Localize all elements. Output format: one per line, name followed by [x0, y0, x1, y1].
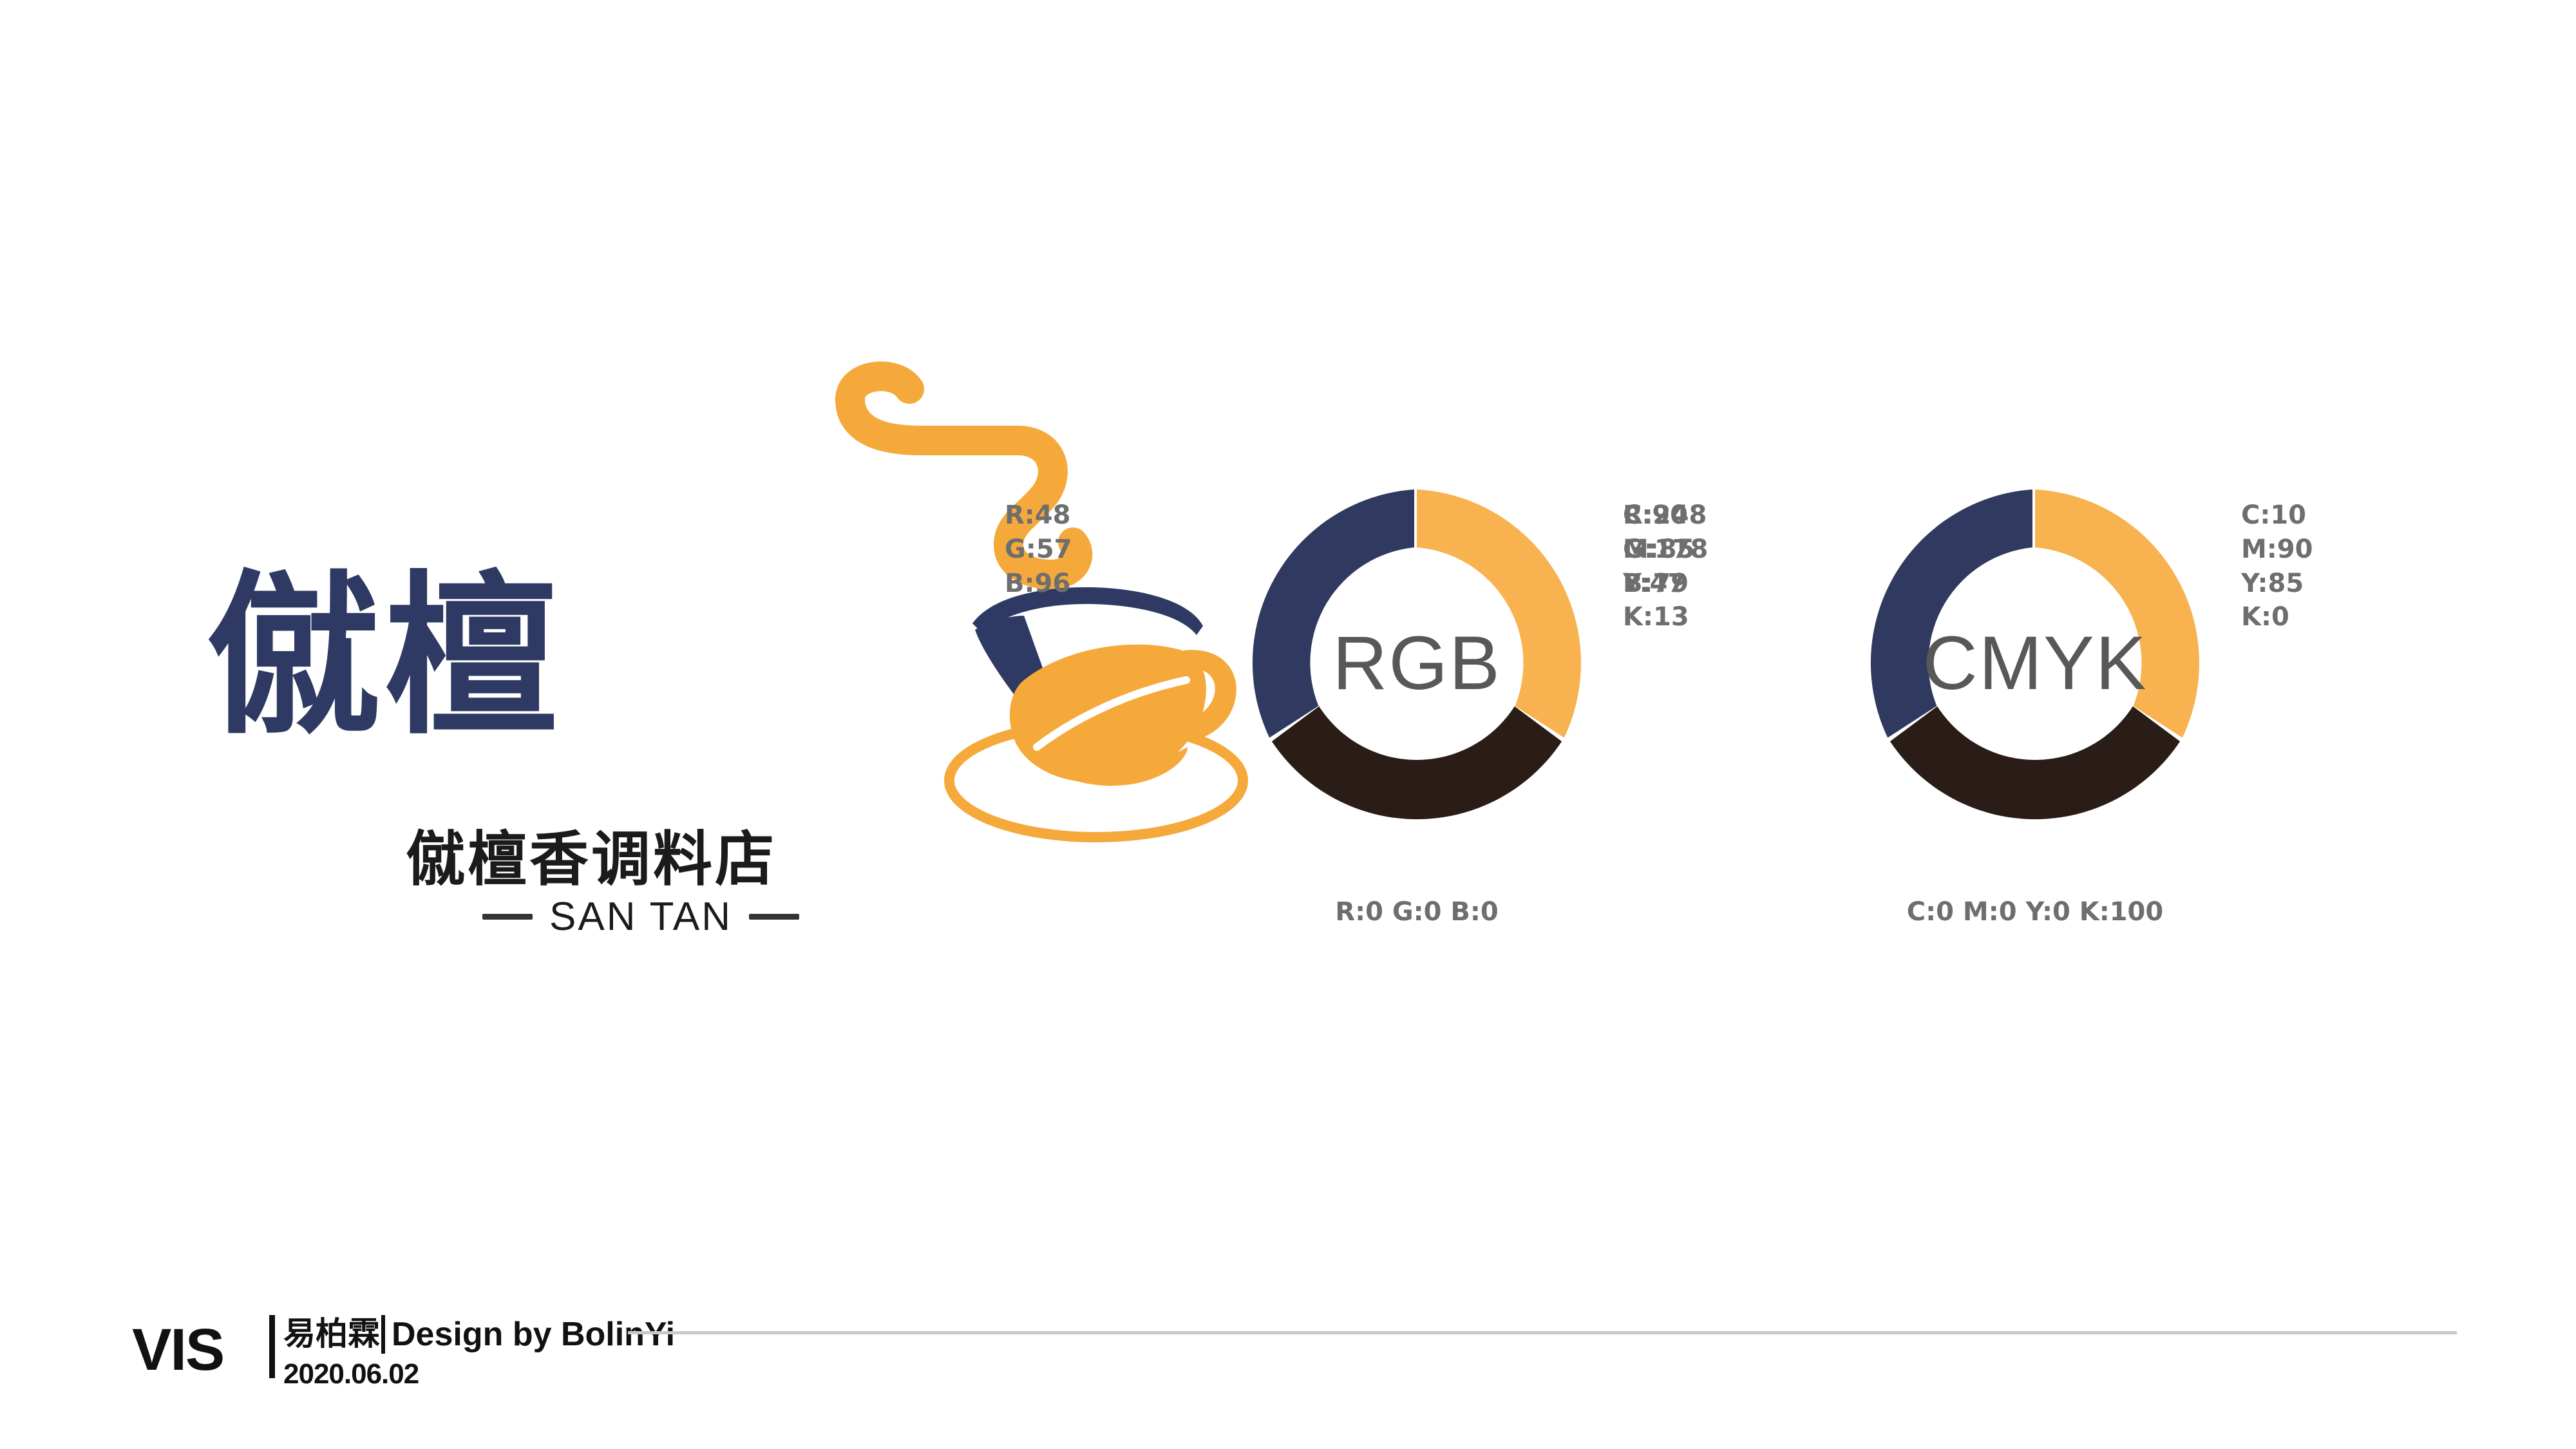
- cmyk-center-label: CMYK: [1842, 470, 2228, 857]
- logo-mark: 僦檀: [193, 361, 1108, 876]
- cmyk-donut-chart: CMYK: [1842, 470, 2228, 857]
- logo-wordmark-chinese: 僦檀: [206, 570, 562, 744]
- footer-vis-label: VIS: [132, 1320, 223, 1379]
- rgb-black-values: R:0 G:0 B:0: [1108, 895, 1726, 929]
- dash-rule-left: [482, 914, 533, 920]
- logo-subtitle-english-row: SAN TAN: [406, 894, 876, 940]
- dash-rule-right: [749, 914, 799, 920]
- rgb-center-label: RGB: [1224, 470, 1610, 857]
- page-footer: VIS 易柏霖 Design by BolinYi 2020.06.02: [0, 1301, 2576, 1404]
- cmyk-color-panel: C:90 M:85 Y:47 K:13 C:10 M:90 Y:85 K:0 C…: [1726, 451, 2344, 1005]
- footer-divider-2: [381, 1315, 385, 1354]
- rgb-donut-chart: RGB: [1224, 470, 1610, 857]
- brand-logo-lockup: 僦檀 僦檀香调料店 SAN TAN: [193, 361, 1108, 1018]
- footer-date: 2020.06.02: [283, 1360, 419, 1388]
- footer-divider-1: [269, 1315, 275, 1378]
- cmyk-navy-values: C:90 M:85 Y:47 K:13: [1623, 498, 1835, 634]
- cmyk-orange-values: C:10 M:90 Y:85 K:0: [2241, 498, 2460, 634]
- rgb-navy-values: R:48 G:57 B:96: [1005, 498, 1217, 600]
- cmyk-black-values: C:0 M:0 Y:0 K:100: [1726, 895, 2344, 929]
- logo-subtitle-chinese: 僦檀香调料店: [406, 811, 777, 897]
- logo-subtitle-english: SAN TAN: [549, 894, 732, 940]
- footer-horizontal-rule: [628, 1331, 2457, 1334]
- footer-design-by: Design by BolinYi: [392, 1318, 675, 1351]
- footer-designer-chinese: 易柏霖: [283, 1318, 380, 1350]
